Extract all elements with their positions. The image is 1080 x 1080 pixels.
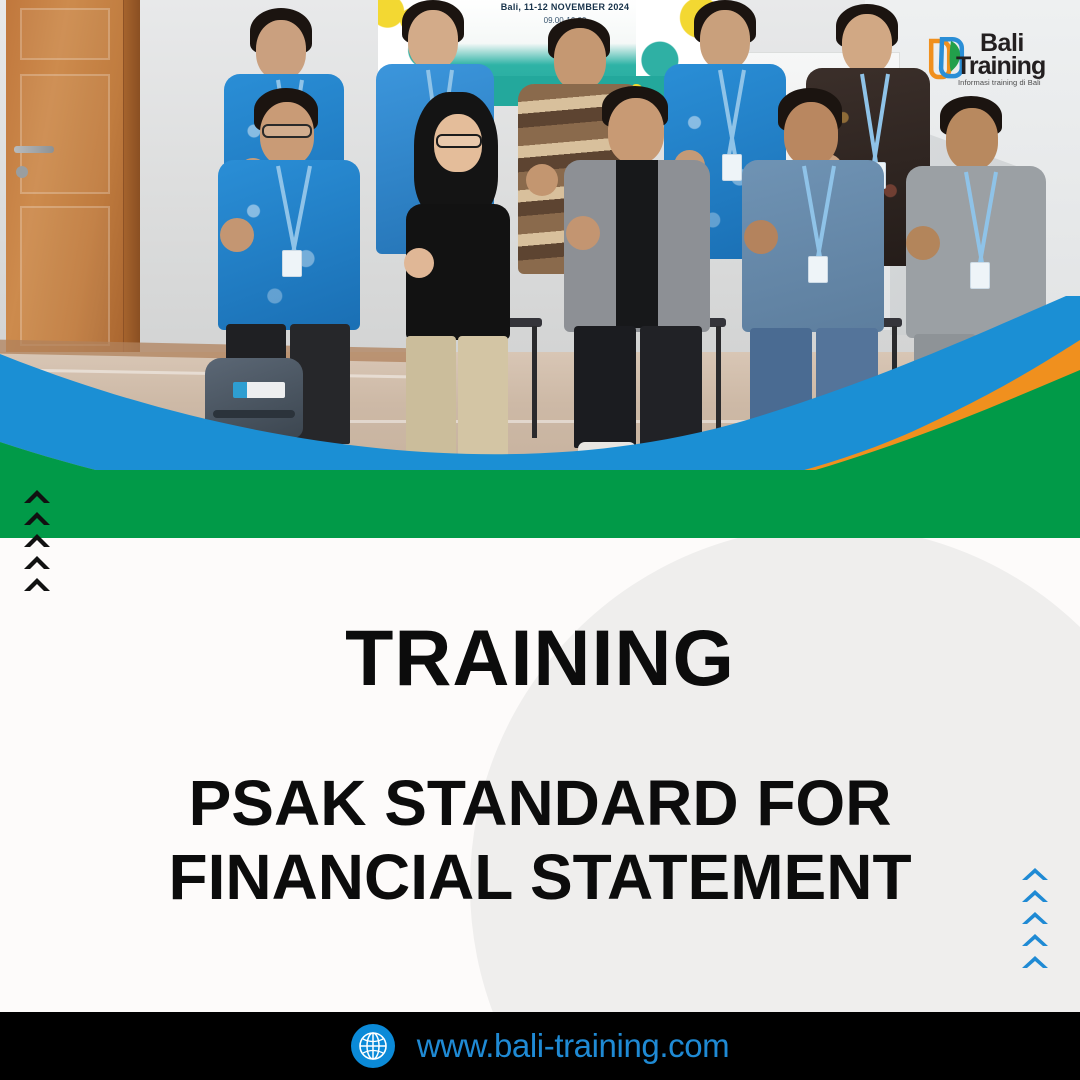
hero-photo-region: Bali, 11-12 NOVEMBER 2024 09.00-16.00 ww…: [0, 0, 1080, 545]
chevron-up-icon: [1020, 930, 1050, 948]
chevron-up-icon: [1020, 908, 1050, 926]
logo-wordmark: Bali Training Informasi training di Bali: [980, 32, 1072, 87]
green-base-band: [0, 470, 1080, 538]
headline-section: TRAINING PSAK STANDARD FOR FINANCIAL STA…: [0, 538, 1080, 1012]
chevron-up-icon: [1020, 886, 1050, 904]
title-line-2: FINANCIAL STATEMENT: [44, 840, 1036, 914]
chevron-up-icon: [1020, 864, 1050, 882]
logo-name-line2: Training: [956, 55, 1072, 78]
chevron-up-icon: [22, 575, 52, 593]
chevron-up-icon: [22, 531, 52, 549]
chevron-up-icon: [22, 487, 52, 505]
bali-training-logo: Bali Training Informasi training di Bali: [922, 30, 1072, 96]
chevron-up-icon: [22, 553, 52, 571]
chevron-up-icon: [22, 509, 52, 527]
website-url[interactable]: www.bali-training.com: [417, 1027, 730, 1065]
kicker-training: TRAINING: [0, 618, 1080, 697]
page-title: PSAK STANDARD FOR FINANCIAL STATEMENT: [0, 766, 1080, 914]
logo-tagline: Informasi training di Bali: [958, 78, 1072, 87]
chevron-up-icon: [1020, 952, 1050, 970]
globe-icon[interactable]: [351, 1024, 395, 1068]
footer-bar: www.bali-training.com: [0, 1012, 1080, 1080]
title-line-1: PSAK STANDARD FOR: [44, 766, 1036, 840]
banner-title: Bali, 11-12 NOVEMBER 2024: [470, 2, 660, 13]
door-lock: [16, 166, 28, 178]
door-handle: [14, 146, 54, 153]
training-flyer-poster: Bali, 11-12 NOVEMBER 2024 09.00-16.00 ww…: [0, 0, 1080, 1080]
